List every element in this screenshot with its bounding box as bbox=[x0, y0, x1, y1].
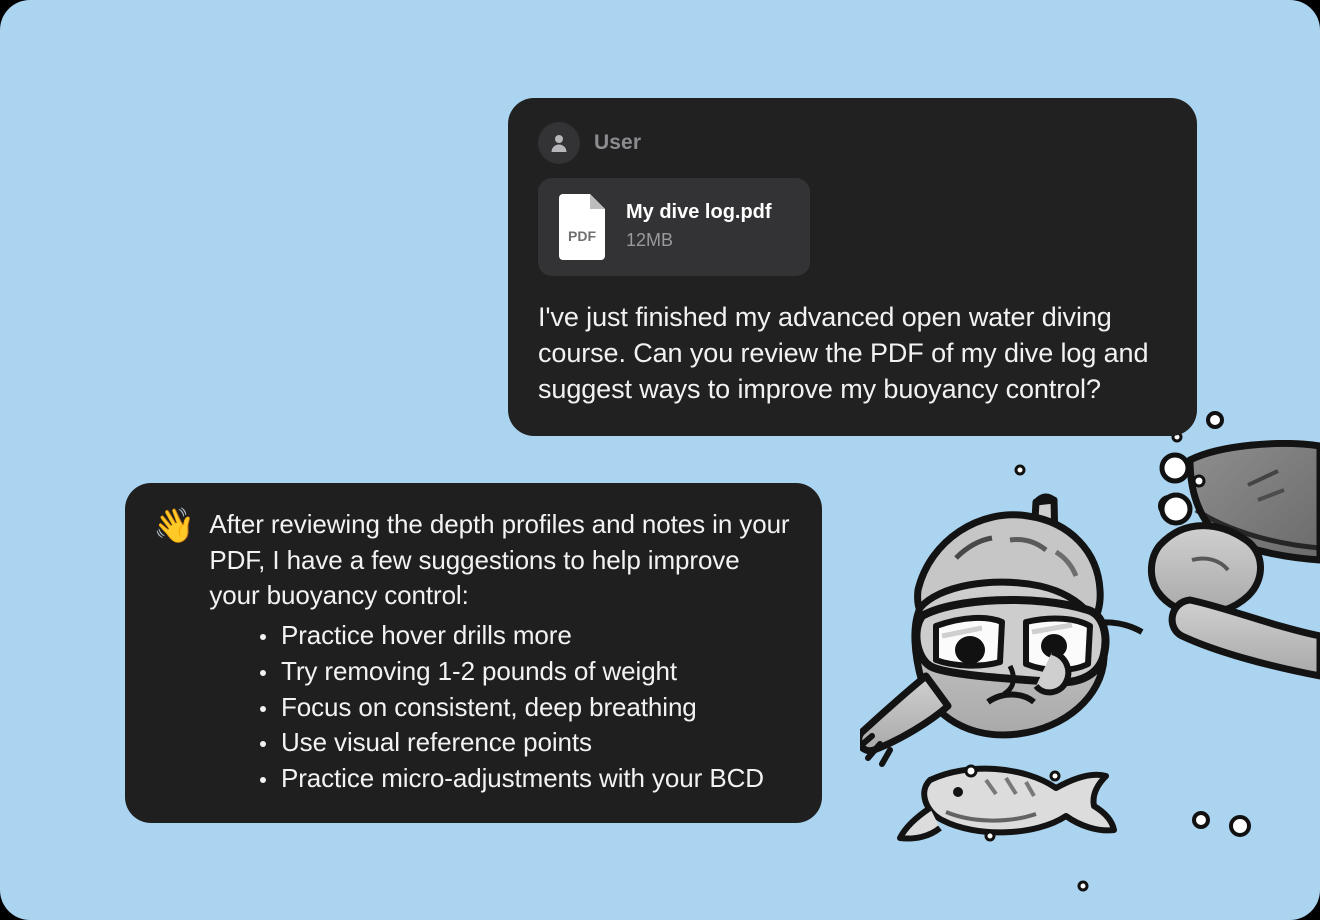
attachment-meta: My dive log.pdf 12MB bbox=[626, 200, 772, 253]
attachment-card[interactable]: PDF My dive log.pdf 12MB bbox=[538, 178, 810, 276]
user-message-header: User bbox=[538, 122, 1167, 164]
attachment-file-name: My dive log.pdf bbox=[626, 200, 772, 225]
pdf-file-icon: PDF bbox=[556, 194, 608, 260]
list-item: Practice hover drills more bbox=[253, 618, 792, 654]
list-item: Practice micro-adjustments with your BCD bbox=[253, 761, 792, 797]
assistant-intro-row: 👋 After reviewing the depth profiles and… bbox=[153, 507, 792, 614]
assistant-intro-text: After reviewing the depth profiles and n… bbox=[209, 507, 792, 614]
snorkeler-diver-illustration bbox=[860, 440, 1320, 920]
page-root: User PDF My dive log.pdf 12MB I've just … bbox=[0, 0, 1320, 920]
person-avatar-icon bbox=[547, 131, 571, 155]
attachment-file-size: 12MB bbox=[626, 228, 772, 253]
avatar bbox=[538, 122, 580, 164]
waving-hand-emoji: 👋 bbox=[153, 508, 195, 545]
assistant-message-bubble: 👋 After reviewing the depth profiles and… bbox=[125, 483, 822, 823]
user-message-bubble: User PDF My dive log.pdf 12MB I've just … bbox=[508, 98, 1197, 436]
list-item: Focus on consistent, deep breathing bbox=[253, 690, 792, 726]
suggestion-list: Practice hover drills more Try removing … bbox=[153, 618, 792, 797]
user-message-text: I've just finished my advanced open wate… bbox=[538, 300, 1167, 408]
list-item: Try removing 1-2 pounds of weight bbox=[253, 654, 792, 690]
pdf-icon-label: PDF bbox=[568, 228, 596, 244]
list-item: Use visual reference points bbox=[253, 725, 792, 761]
sender-name: User bbox=[594, 131, 641, 155]
